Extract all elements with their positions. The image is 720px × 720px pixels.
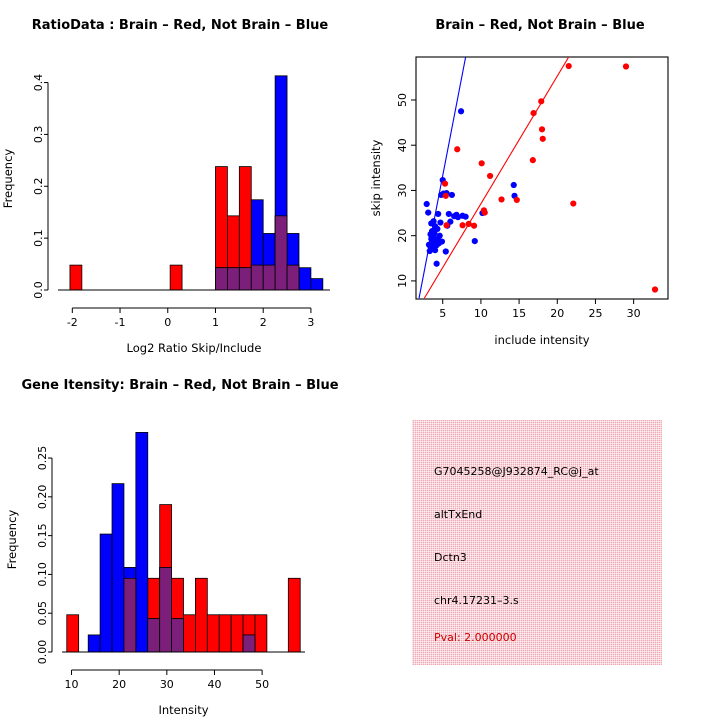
x-tick-label: 20 — [112, 678, 126, 691]
scatter-point — [538, 98, 544, 104]
x-tick-label: 3 — [307, 316, 314, 329]
panel-scatter: Brain – Red, Not Brain – Blue 1020304050… — [360, 0, 720, 360]
x-tick-label: 5 — [439, 307, 446, 320]
scatter-point — [463, 214, 469, 220]
histogram-overlap-bar — [172, 619, 184, 652]
scatter-point — [570, 200, 576, 206]
scatter-point — [458, 108, 464, 114]
y-tick-label: 10 — [396, 274, 409, 288]
x-tick-label: 1 — [212, 316, 219, 329]
y-tick-label: 0.05 — [36, 601, 49, 626]
histogram-overlap-bar — [287, 265, 299, 290]
x-tick-label: 10 — [474, 307, 488, 320]
y-tick-label: 0.10 — [36, 562, 49, 587]
scatter-point — [511, 182, 517, 188]
ratio-histogram-plot: 0.00.10.20.30.4-2-10123Log2 Ratio Skip/I… — [0, 0, 360, 360]
scatter-point — [449, 192, 455, 198]
x-tick-label: 50 — [255, 678, 269, 691]
histogram-bar — [88, 635, 100, 652]
scatter-point — [530, 157, 536, 163]
y-tick-label: 0.25 — [36, 446, 49, 471]
scatter-point — [471, 223, 477, 229]
scatter-point — [472, 238, 478, 244]
probe-id-text: G7045258@J932874_RC@j_at — [434, 465, 599, 478]
x-tick-label: 15 — [512, 307, 526, 320]
y-axis: 0.00.10.20.30.4 — [32, 74, 48, 299]
x-axis: 51015202530 — [439, 299, 640, 320]
histogram-overlap-bar — [227, 268, 239, 290]
histogram-bar — [170, 265, 182, 290]
scatter-point — [424, 201, 430, 207]
x-tick-label: 20 — [550, 307, 564, 320]
gene-histogram-title: Gene Itensity: Brain – Red, Not Brain – … — [0, 378, 360, 393]
pval-text: Pval: 2.000000 — [434, 631, 517, 644]
panel-ratio-histogram: RatioData : Brain – Red, Not Brain – Blu… — [0, 0, 360, 360]
histogram-bar — [67, 615, 79, 652]
histogram-bar — [112, 484, 124, 652]
y-axis-label: Frequency — [1, 149, 15, 209]
scatter-point — [482, 210, 488, 216]
y-tick-label: 0.0 — [32, 281, 45, 299]
ratio-histogram-title: RatioData : Brain – Red, Not Brain – Blu… — [0, 18, 360, 33]
x-tick-label: 10 — [65, 678, 79, 691]
histogram-bar — [184, 615, 196, 652]
histogram-bar — [195, 578, 207, 652]
annotation-info-panel: G7045258@J932874_RC@j_at altTxEnd Dctn3 … — [412, 420, 662, 665]
x-axis-label: Intensity — [158, 703, 208, 717]
histogram-bar — [207, 615, 219, 652]
y-axis-label: skip intensity — [369, 139, 383, 216]
x-tick-label: 25 — [588, 307, 602, 320]
scatter-plot: 102030405051015202530include intensitysk… — [360, 0, 720, 360]
y-tick-label: 50 — [396, 93, 409, 107]
y-axis: 1020304050 — [396, 93, 416, 288]
scatter-point — [566, 63, 572, 69]
y-tick-label: 0.1 — [32, 229, 45, 247]
event-type-text: altTxEnd — [434, 508, 482, 521]
scatter-point — [498, 196, 504, 202]
scatter-point — [437, 219, 443, 225]
scatter-point — [439, 238, 445, 244]
figure-root: RatioData : Brain – Red, Not Brain – Blu… — [0, 0, 720, 720]
histogram-bar — [255, 615, 267, 652]
scatter-point — [459, 222, 465, 228]
scatter-point — [652, 286, 658, 292]
gene-symbol-text: Dctn3 — [434, 551, 467, 564]
y-tick-label: 0.00 — [36, 640, 49, 665]
scatter-point — [479, 160, 485, 166]
x-tick-label: -1 — [115, 316, 126, 329]
scatter-point — [443, 222, 449, 228]
scatter-point — [437, 233, 443, 239]
histogram-bar — [70, 265, 82, 290]
scatter-point — [487, 173, 493, 179]
x-tick-label: -2 — [67, 316, 78, 329]
y-tick-label: 20 — [396, 229, 409, 243]
scatter-point — [446, 211, 452, 217]
histogram-content: 0.000.050.100.150.200.251020304050Intens… — [5, 432, 305, 717]
y-tick-label: 0.2 — [32, 178, 45, 196]
histogram-overlap-bar — [275, 216, 287, 290]
histogram-overlap-bar — [243, 635, 255, 652]
y-tick-label: 0.3 — [32, 126, 45, 144]
y-axis: 0.000.050.100.150.200.25 — [36, 446, 52, 664]
scatter-point — [623, 63, 629, 69]
histogram-bar — [100, 534, 112, 652]
x-tick-label: 0 — [164, 316, 171, 329]
histogram-overlap-bar — [124, 578, 136, 652]
scatter-content: 102030405051015202530include intensitysk… — [369, 57, 668, 347]
histogram-content: 0.00.10.20.30.4-2-10123Log2 Ratio Skip/I… — [1, 74, 330, 355]
scatter-inner — [419, 57, 658, 298]
histogram-bar — [219, 615, 231, 652]
x-axis: 1020304050 — [65, 670, 270, 691]
scatter-point — [435, 211, 441, 217]
y-tick-label: 30 — [396, 183, 409, 197]
y-axis-label: Frequency — [5, 510, 19, 570]
histogram-bar — [311, 279, 323, 290]
histogram-overlap-bar — [148, 619, 160, 652]
y-tick-label: 0.15 — [36, 523, 49, 548]
histogram-bar — [231, 615, 243, 652]
scatter-point — [425, 210, 431, 216]
histogram-overlap-bar — [160, 567, 172, 652]
histogram-overlap-bar — [215, 268, 227, 290]
x-tick-label: 40 — [207, 678, 221, 691]
red-points — [442, 63, 658, 293]
x-tick-label: 30 — [160, 678, 174, 691]
x-axis-label: Log2 Ratio Skip/Include — [127, 341, 262, 355]
red-fit-line — [424, 57, 568, 298]
histogram-bar — [299, 268, 311, 290]
blue-points — [424, 108, 518, 267]
scatter-title: Brain – Red, Not Brain – Blue — [360, 18, 720, 33]
histogram-overlap-bar — [251, 265, 263, 290]
y-tick-label: 0.4 — [32, 74, 45, 92]
histogram-bar — [136, 432, 148, 652]
plot-frame — [416, 57, 668, 299]
scatter-point — [539, 126, 545, 132]
y-tick-label: 40 — [396, 138, 409, 152]
x-tick-label: 30 — [627, 307, 641, 320]
x-axis-label: include intensity — [494, 333, 589, 347]
scatter-point — [466, 221, 472, 227]
scatter-point — [514, 197, 520, 203]
histogram-overlap-bar — [239, 268, 251, 290]
scatter-point — [434, 261, 440, 267]
scatter-point — [443, 193, 449, 199]
scatter-point — [443, 248, 449, 254]
panel-gene-histogram: Gene Itensity: Brain – Red, Not Brain – … — [0, 360, 360, 720]
histogram-bar — [288, 578, 300, 652]
scatter-point — [531, 110, 537, 116]
x-axis: -2-10123 — [67, 308, 315, 329]
x-tick-label: 2 — [260, 316, 267, 329]
scatter-point — [454, 146, 460, 152]
coordinate-text: chr4.17231–3.s — [434, 594, 519, 607]
y-tick-label: 0.20 — [36, 485, 49, 510]
gene-histogram-plot: 0.000.050.100.150.200.251020304050Intens… — [0, 360, 360, 720]
scatter-point — [442, 181, 448, 187]
scatter-point — [540, 136, 546, 142]
histogram-overlap-bar — [263, 265, 275, 290]
scatter-point — [434, 226, 440, 232]
